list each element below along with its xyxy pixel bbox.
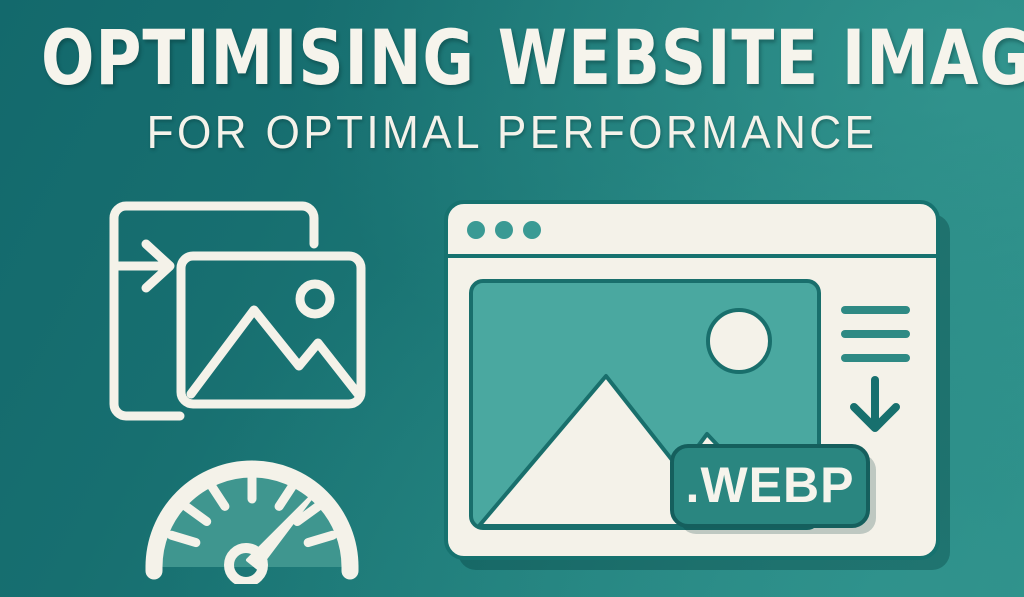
- webp-badge-label: .WEBP: [686, 457, 855, 513]
- back-frame-corner: [302, 206, 314, 244]
- image-resize-icon: [96, 198, 386, 426]
- heading-block: OPTIMISING WEBSITE IMAGES FOR OPTIMAL PE…: [0, 16, 1024, 158]
- page-title: OPTIMISING WEBSITE IMAGES: [41, 16, 983, 100]
- sun-icon: [300, 284, 330, 314]
- window-dot-3[interactable]: [523, 221, 541, 239]
- page-subtitle: FOR OPTIMAL PERFORMANCE: [20, 106, 1003, 158]
- poster-canvas: OPTIMISING WEBSITE IMAGES FOR OPTIMAL PE…: [0, 0, 1024, 597]
- browser-window-mockup: .WEBP: [424, 186, 964, 576]
- window-dot-1[interactable]: [467, 221, 485, 239]
- speed-gauge-icon: [128, 432, 376, 584]
- photo-sun-icon: [708, 310, 770, 372]
- back-frame-outline: [114, 206, 302, 416]
- mountain-icon: [191, 310, 358, 394]
- window-dot-2[interactable]: [495, 221, 513, 239]
